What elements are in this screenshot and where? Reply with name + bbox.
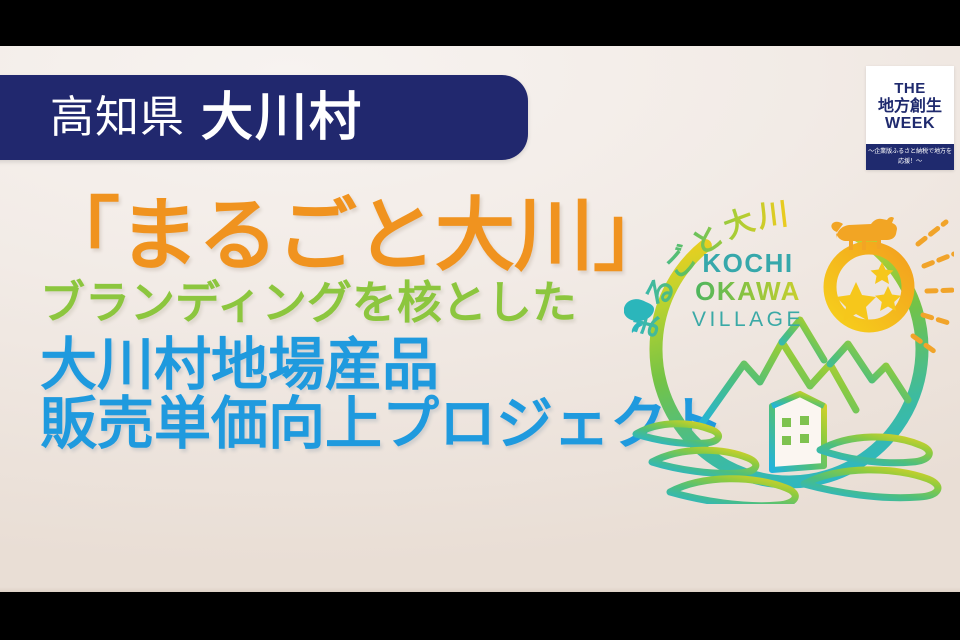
logo-kochi-text: KOCHI	[702, 248, 793, 278]
event-badge-the: THE	[894, 81, 926, 97]
event-badge-body: THE 地方創生 WEEK	[866, 66, 954, 144]
event-badge-week: WEEK	[885, 116, 935, 133]
logo-village-text: VILLAGE	[692, 308, 804, 331]
village-brand-logo: まるごと大川	[624, 174, 954, 504]
event-badge-jp: 地方創生	[878, 98, 942, 116]
letterbox-top	[0, 0, 960, 46]
slide-canvas: 高知県 大川村 THE 地方創生 WEEK 〜企業版ふるさと納税で地方を応援！〜…	[0, 46, 960, 592]
village-label: 大川村	[201, 92, 363, 144]
logo-cow-icon	[831, 217, 897, 250]
logo-wordmark: KOCHI OKAWA VILLAGE	[692, 248, 804, 331]
event-badge-footer: 〜企業版ふるさと納税で地方を応援！〜	[866, 144, 954, 170]
letterbox-bottom	[0, 592, 960, 640]
presentation-slide: 高知県 大川村 THE 地方創生 WEEK 〜企業版ふるさと納税で地方を応援！〜…	[0, 0, 960, 640]
event-badge: THE 地方創生 WEEK 〜企業版ふるさと納税で地方を応援！〜	[866, 66, 954, 170]
logo-okawa-text: OKAWA	[695, 276, 801, 306]
prefecture-banner: 高知県 大川村	[0, 75, 528, 160]
logo-sun-icon	[830, 248, 908, 326]
logo-building-icon	[772, 394, 824, 470]
prefecture-label: 高知県	[50, 96, 185, 140]
